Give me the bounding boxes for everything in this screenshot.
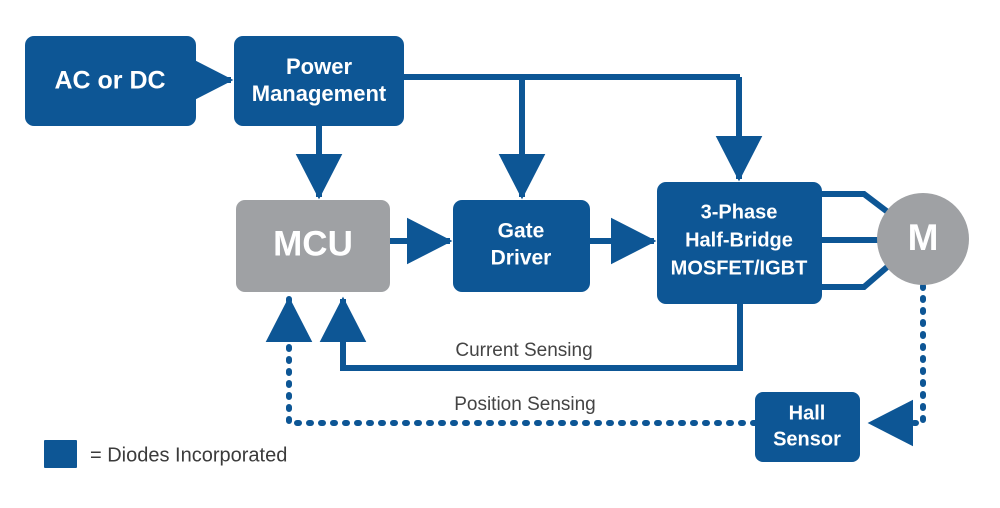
block-ac-or-dc[interactable]: AC or DC <box>25 36 196 126</box>
connector-motor-to-hall-sensor <box>870 286 923 423</box>
block-mcu[interactable]: MCU <box>236 200 390 292</box>
block-power-management-label-line1: Power <box>286 54 352 79</box>
legend: = Diodes Incorporated <box>44 440 287 468</box>
block-gate-driver-label-line1: Gate <box>498 220 545 243</box>
label-current-sensing-text: Current Sensing <box>455 340 592 361</box>
block-power-management[interactable]: Power Management <box>234 36 404 126</box>
block-half-bridge-label-line1: 3-Phase <box>701 201 778 223</box>
block-ac-or-dc-label: AC or DC <box>54 67 165 95</box>
block-mcu-label: MCU <box>273 224 353 263</box>
legend-text: = Diodes Incorporated <box>90 444 287 466</box>
block-gate-driver-label-line2: Driver <box>491 247 552 270</box>
motor-control-block-diagram: AC or DC Power Management MCU Gate Drive… <box>0 0 1000 508</box>
block-half-bridge-label-line3: MOSFET/IGBT <box>671 257 808 279</box>
diagram-canvas: AC or DC Power Management MCU Gate Drive… <box>0 0 1000 508</box>
label-position-sensing: Position Sensing <box>432 391 618 419</box>
block-hall-sensor-label-line1: Hall <box>789 402 826 424</box>
block-hall-sensor-label-line2: Sensor <box>773 428 841 450</box>
block-power-management-label-line2: Management <box>252 81 387 106</box>
legend-swatch <box>44 440 77 468</box>
block-motor-label: M <box>908 217 939 258</box>
block-hall-sensor[interactable]: Hall Sensor <box>755 392 860 462</box>
label-current-sensing: Current Sensing <box>433 337 615 365</box>
block-half-bridge[interactable]: 3-Phase Half-Bridge MOSFET/IGBT <box>657 182 822 304</box>
block-motor[interactable]: M <box>877 193 969 285</box>
connector-phase-u <box>822 194 893 216</box>
label-position-sensing-text: Position Sensing <box>454 394 596 415</box>
connector-phase-w <box>822 262 893 287</box>
block-gate-driver[interactable]: Gate Driver <box>453 200 590 292</box>
block-half-bridge-label-line2: Half-Bridge <box>685 229 793 251</box>
